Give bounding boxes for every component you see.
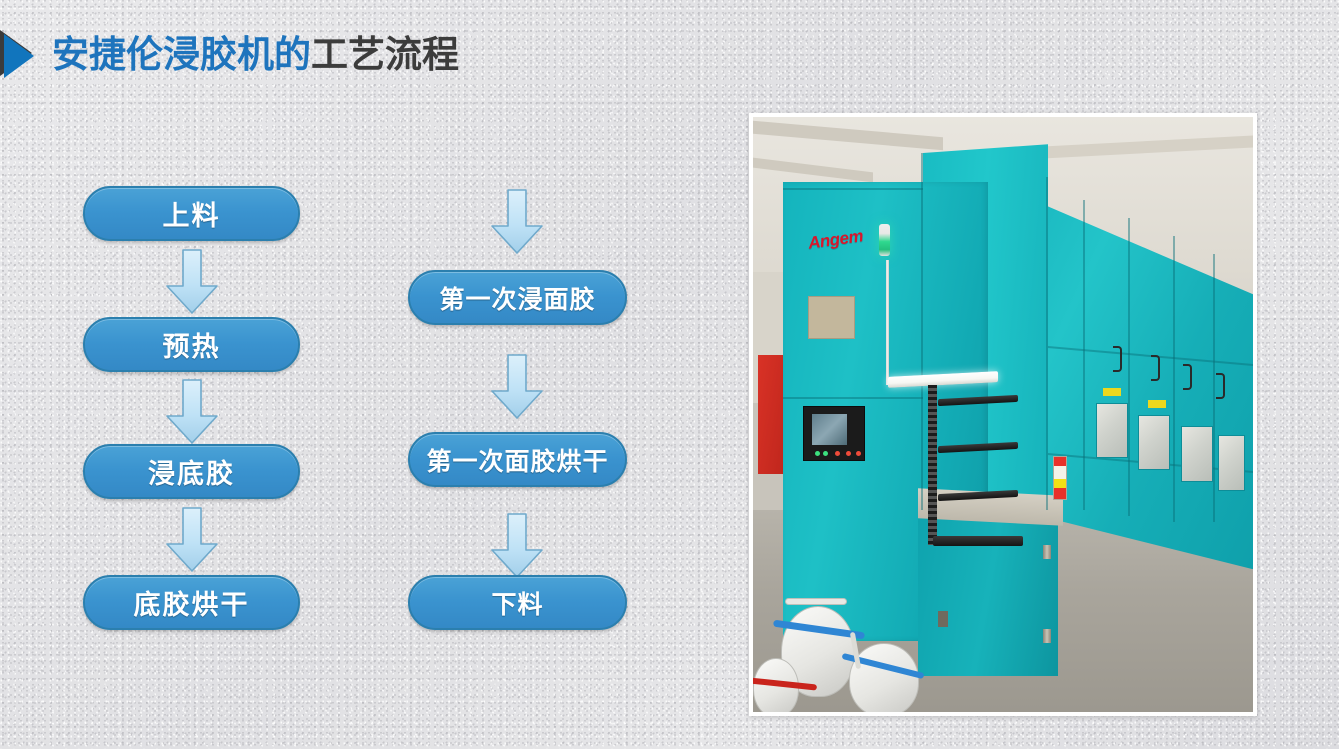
machine-window-1: [1096, 403, 1128, 459]
hmi-led-red2: [846, 451, 851, 456]
flow-node-label: 下料: [491, 585, 543, 621]
triangle-blue-shape: [4, 34, 34, 78]
hmi-led-red: [835, 451, 840, 456]
machine-seam-v4: [1128, 218, 1130, 516]
machine-photo: Angem: [753, 117, 1253, 712]
machine-rung-4: [933, 536, 1023, 546]
hmi-led-green2: [823, 451, 828, 456]
machine-cable-chain: [928, 385, 937, 546]
machine-handle-3: [1183, 364, 1192, 390]
flow-node-label: 底胶烘干: [134, 583, 250, 622]
machine-seam-v3: [1083, 200, 1085, 509]
machine-yellow-tag-1: [1103, 388, 1121, 396]
machine-handle-2: [1151, 355, 1160, 381]
flow-node-col2-3[interactable]: 下料: [408, 575, 627, 630]
hmi-screen: [812, 414, 847, 445]
hmi-led-red3: [856, 451, 861, 456]
flow-node-label: 第一次面胶烘干: [426, 442, 608, 478]
machine-nameplate: [808, 296, 855, 340]
flow-node-label: 浸底胶: [148, 452, 235, 491]
flow-node-col1-2[interactable]: 预热: [83, 317, 300, 372]
machine-hinge-1: [1043, 545, 1051, 559]
hmi-led-green: [815, 451, 820, 456]
machine-hinge-2: [1043, 629, 1051, 643]
machine-seam-v6: [1213, 254, 1215, 522]
page-title-secondary: 工艺流程: [311, 34, 459, 75]
machine-window-2: [1138, 415, 1170, 471]
machine-seam-v1: [921, 153, 923, 510]
flow-node-label: 上料: [163, 194, 221, 233]
flow-node-col2-2[interactable]: 第一次面胶烘干: [408, 432, 627, 487]
machine-stack-light: [879, 224, 890, 256]
machine-photo-frame: Angem: [749, 113, 1257, 716]
machine-seam-h1: [783, 397, 923, 399]
flow-node-col1-4[interactable]: 底胶烘干: [83, 575, 300, 630]
machine-handle-1: [1113, 346, 1122, 372]
machine-hmi-panel: [803, 406, 865, 462]
foreground-frame-bar: [785, 598, 847, 605]
flow-node-col1-3[interactable]: 浸底胶: [83, 444, 300, 499]
machine-window-3: [1181, 426, 1213, 482]
flow-node-label: 预热: [163, 325, 221, 364]
machine-warning-label: [1053, 456, 1067, 500]
machine-seam-h2: [783, 188, 923, 190]
machine-seam-v5: [1173, 236, 1175, 522]
triangle-bullet-icon: [0, 28, 46, 80]
machine-lamp-pole: [886, 260, 889, 385]
page-title-primary: 安捷伦浸胶机的: [52, 34, 311, 75]
photo-foreground-equipment: [753, 569, 953, 712]
machine-yellow-tag-2: [1148, 400, 1166, 408]
page-title: 安捷伦浸胶机的工艺流程: [52, 36, 459, 73]
machine-handle-4: [1216, 373, 1225, 399]
foreground-drum-2: [849, 643, 919, 712]
machine-seam-v2: [1046, 177, 1048, 510]
flow-node-label: 第一次浸面胶: [439, 280, 595, 316]
slide-title-row: 安捷伦浸胶机的工艺流程: [0, 26, 459, 82]
flow-node-col1-1[interactable]: 上料: [83, 186, 300, 241]
machine-window-4: [1218, 435, 1245, 491]
flow-node-col2-1[interactable]: 第一次浸面胶: [408, 270, 627, 325]
